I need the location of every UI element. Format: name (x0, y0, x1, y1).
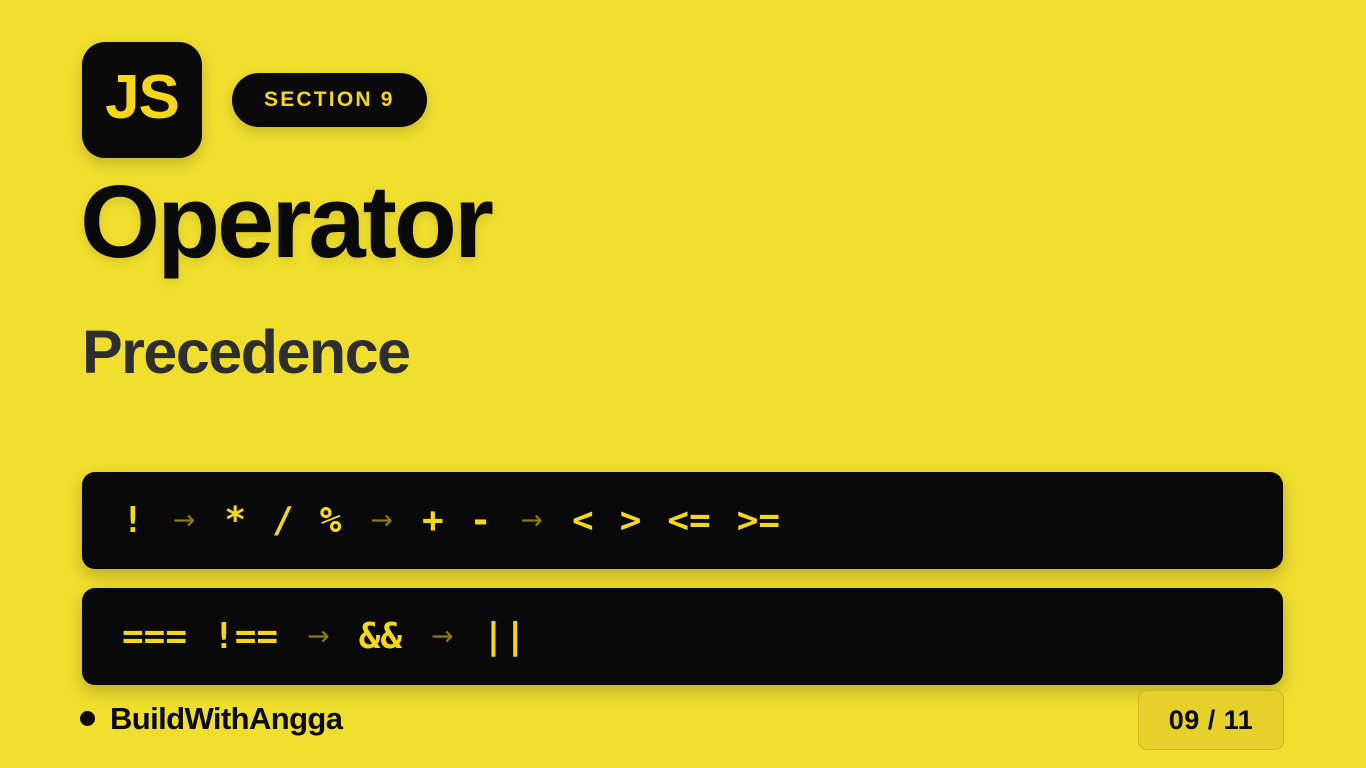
operator-token: <= (654, 503, 723, 539)
operator-precedence-bar-1: !→*/%→+-→<><=>= (82, 472, 1283, 569)
page-indicator-badge: 09 / 11 (1138, 690, 1284, 750)
footer-brand-label: BuildWithAngga (110, 703, 342, 734)
section-badge: SECTION 9 (232, 73, 427, 127)
slide-header: JS SECTION 9 (82, 42, 427, 158)
precedence-arrow-icon: → (354, 507, 409, 534)
operator-token: - (457, 503, 505, 539)
page-title: Operator (80, 168, 491, 276)
precedence-arrow-icon: → (415, 623, 470, 650)
operator-token: === (122, 619, 200, 655)
operator-token: / (259, 503, 307, 539)
operator-token: ! (122, 503, 157, 539)
operator-token: || (470, 619, 539, 655)
page-subtitle: Precedence (82, 320, 410, 384)
footer-brand: BuildWithAngga (80, 703, 342, 734)
operator-token: && (346, 619, 415, 655)
operator-token: % (307, 503, 355, 539)
operator-token: + (409, 503, 457, 539)
operator-token: !== (200, 619, 291, 655)
section-badge-label: SECTION 9 (264, 88, 395, 112)
page-indicator-label: 09 / 11 (1169, 707, 1254, 734)
precedence-arrow-icon: → (291, 623, 346, 650)
operator-token: * (211, 503, 259, 539)
precedence-arrow-icon: → (157, 507, 212, 534)
operator-token: < (559, 503, 607, 539)
operator-token: > (607, 503, 655, 539)
operator-token-list-1: !→*/%→+-→<><=>= (122, 503, 793, 539)
bullet-icon (80, 711, 95, 726)
js-logo-label: JS (105, 67, 179, 129)
operator-precedence-bar-2: ===!==→&&→|| (82, 588, 1283, 685)
js-logo: JS (82, 42, 202, 158)
precedence-arrow-icon: → (504, 507, 559, 534)
operator-token-list-2: ===!==→&&→|| (122, 619, 539, 655)
operator-token: >= (724, 503, 793, 539)
slide-root: JS SECTION 9 Operator Precedence !→*/%→+… (0, 0, 1366, 768)
